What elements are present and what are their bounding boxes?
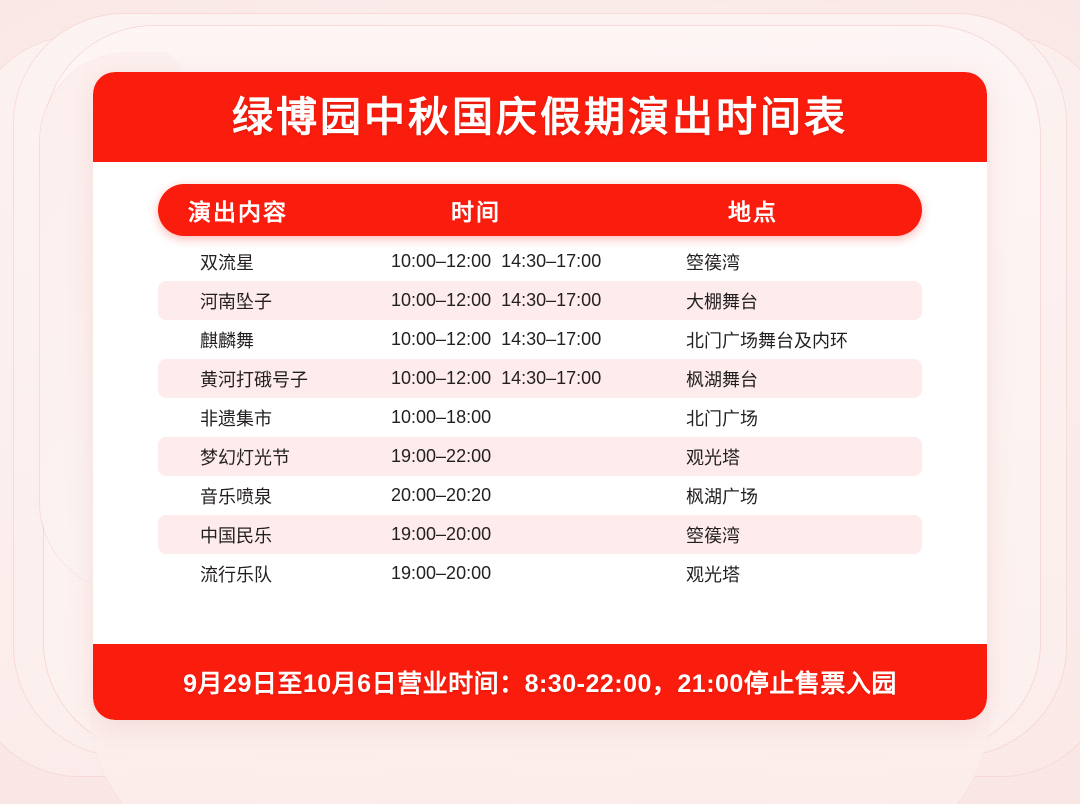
schedule-table: 演出内容 时间 地点 双流星10:00–12:00 14:30–17:00箜篌湾… — [93, 162, 987, 593]
title-bar: 绿博园中秋国庆假期演出时间表 — [93, 72, 987, 162]
table-row: 流行乐队19:00–20:00观光塔 — [158, 554, 922, 593]
cell-place: 观光塔 — [668, 561, 922, 587]
cell-content: 梦幻灯光节 — [158, 444, 373, 470]
poster-root: 绿博园中秋国庆假期演出时间表 演出内容 时间 地点 双流星10:00–12:00… — [0, 0, 1080, 804]
cell-place: 箜篌湾 — [668, 249, 922, 275]
page-title: 绿博园中秋国庆假期演出时间表 — [232, 97, 848, 138]
table-row: 中国民乐19:00–20:00箜篌湾 — [158, 515, 922, 554]
table-row: 双流星10:00–12:00 14:30–17:00箜篌湾 — [158, 242, 922, 281]
column-header-time: 时间 — [373, 193, 668, 227]
cell-time: 20:00–20:20 — [373, 485, 668, 506]
cell-place: 箜篌湾 — [668, 522, 922, 548]
cell-content: 河南坠子 — [158, 288, 373, 314]
column-header-place: 地点 — [668, 193, 922, 227]
cell-content: 流行乐队 — [158, 561, 373, 587]
cell-place: 枫湖广场 — [668, 483, 922, 509]
cell-content: 黄河打硪号子 — [158, 366, 373, 392]
column-header-content: 演出内容 — [158, 193, 373, 227]
cell-time: 10:00–12:00 14:30–17:00 — [373, 290, 668, 311]
cell-time: 19:00–22:00 — [373, 446, 668, 467]
cell-place: 观光塔 — [668, 444, 922, 470]
table-header-row: 演出内容 时间 地点 — [158, 184, 922, 236]
table-row: 音乐喷泉20:00–20:20枫湖广场 — [158, 476, 922, 515]
cell-place: 枫湖舞台 — [668, 366, 922, 392]
cell-time: 19:00–20:00 — [373, 563, 668, 584]
cell-content: 音乐喷泉 — [158, 483, 373, 509]
cell-content: 麒麟舞 — [158, 327, 373, 353]
cell-content: 非遗集市 — [158, 405, 373, 431]
table-row: 非遗集市10:00–18:00北门广场 — [158, 398, 922, 437]
cell-time: 10:00–12:00 14:30–17:00 — [373, 251, 668, 272]
cell-time: 10:00–12:00 14:30–17:00 — [373, 368, 668, 389]
cell-content: 中国民乐 — [158, 522, 373, 548]
table-row: 河南坠子10:00–12:00 14:30–17:00大棚舞台 — [158, 281, 922, 320]
cell-time: 10:00–12:00 14:30–17:00 — [373, 329, 668, 350]
cell-content: 双流星 — [158, 249, 373, 275]
table-row: 麒麟舞10:00–12:00 14:30–17:00北门广场舞台及内环 — [158, 320, 922, 359]
cell-time: 10:00–18:00 — [373, 407, 668, 428]
cell-place: 北门广场 — [668, 405, 922, 431]
cell-place: 大棚舞台 — [668, 288, 922, 314]
cell-place: 北门广场舞台及内环 — [668, 327, 922, 353]
table-row: 梦幻灯光节19:00–22:00观光塔 — [158, 437, 922, 476]
schedule-card: 绿博园中秋国庆假期演出时间表 演出内容 时间 地点 双流星10:00–12:00… — [93, 72, 987, 720]
footer-bar: 9月29日至10月6日营业时间：8:30-22:00，21:00停止售票入园 — [93, 644, 987, 720]
cell-time: 19:00–20:00 — [373, 524, 668, 545]
opening-hours-note: 9月29日至10月6日营业时间：8:30-22:00，21:00停止售票入园 — [183, 664, 897, 700]
table-row: 黄河打硪号子10:00–12:00 14:30–17:00枫湖舞台 — [158, 359, 922, 398]
table-body: 双流星10:00–12:00 14:30–17:00箜篌湾河南坠子10:00–1… — [158, 242, 922, 593]
